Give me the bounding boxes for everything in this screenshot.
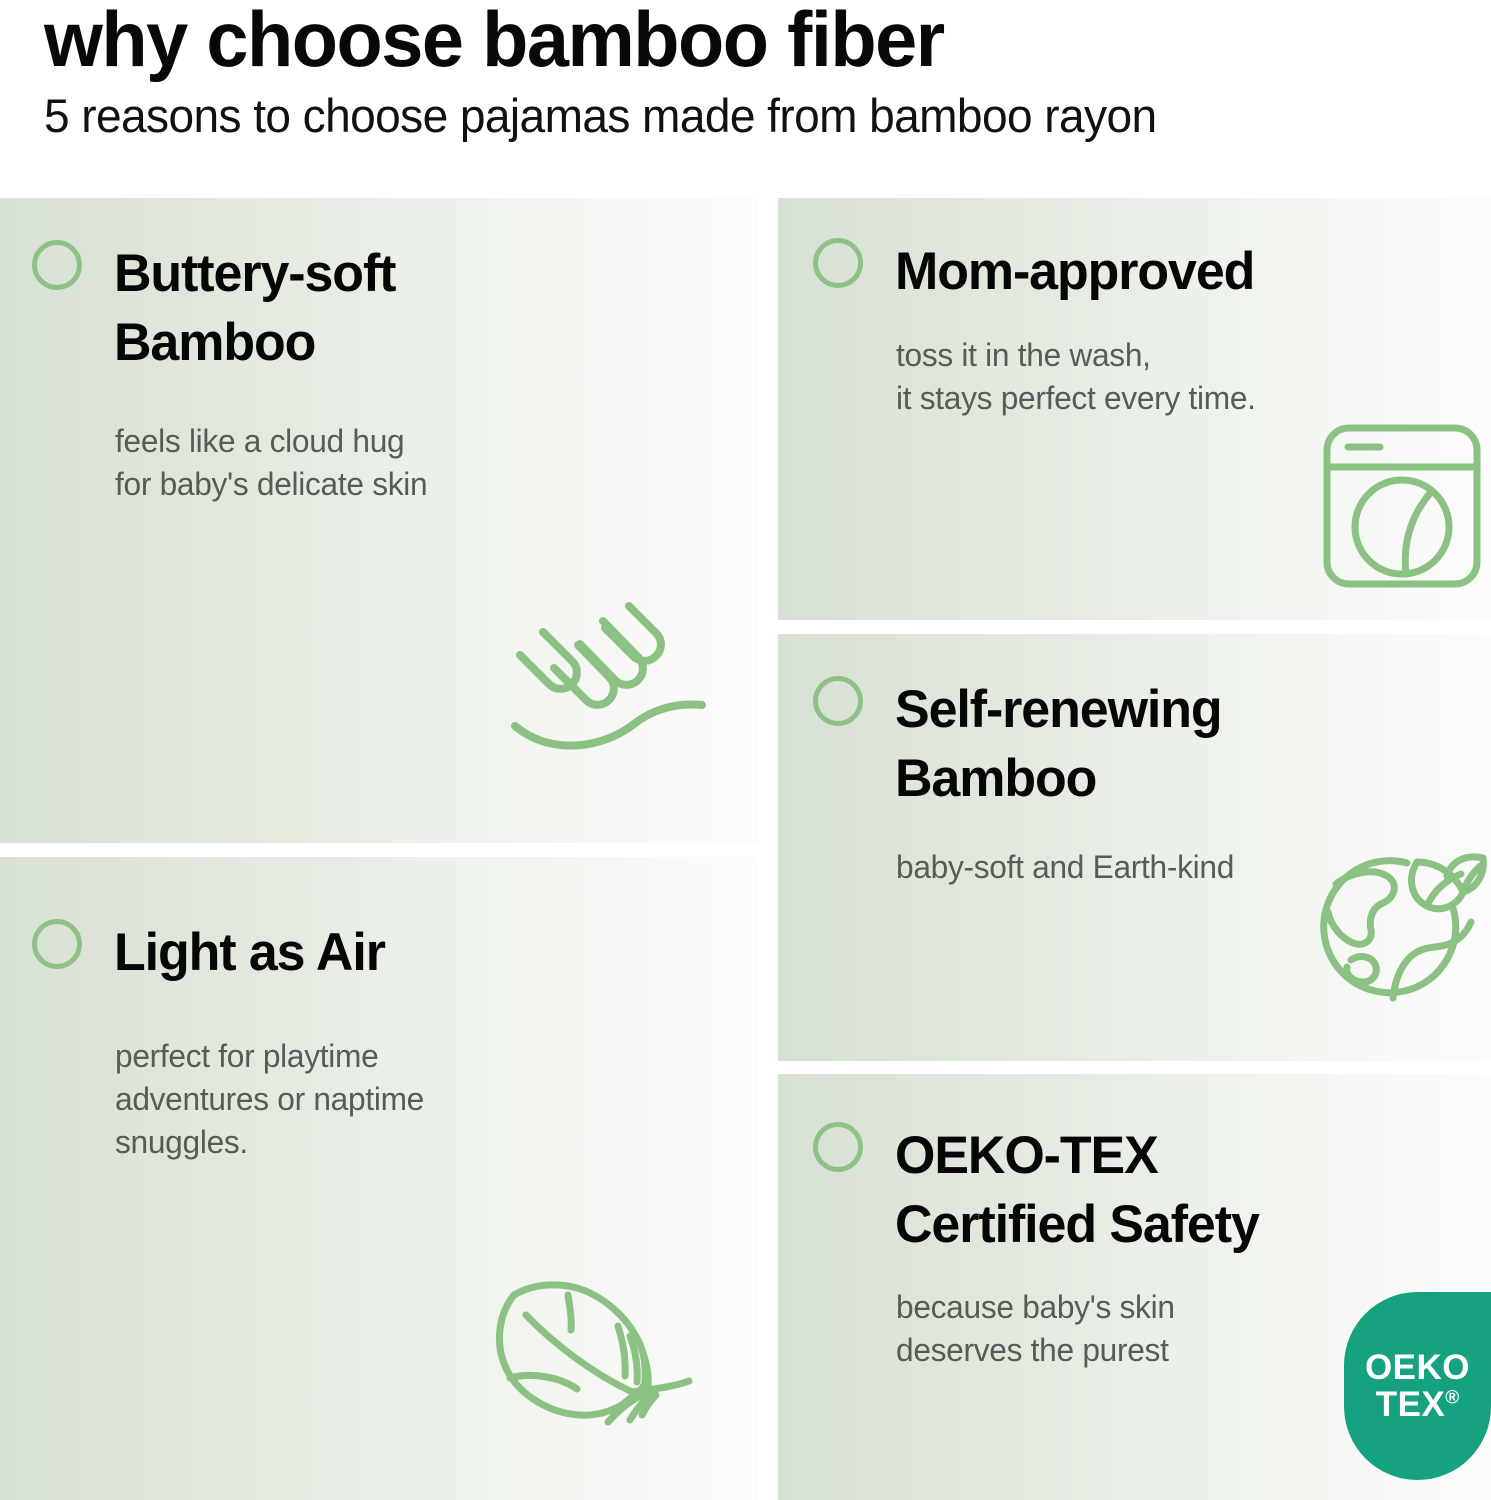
hand-touch-fabric-icon <box>494 598 724 788</box>
card-heading-row: Buttery-soft Bamboo <box>32 240 401 378</box>
card-description: feels like a cloud hug for baby's delica… <box>115 420 427 506</box>
oeko-badge-line1: OEKO <box>1365 1350 1470 1385</box>
oeko-badge-tex: TEX <box>1376 1385 1446 1424</box>
card-heading: Light as Air <box>114 919 385 988</box>
card-description: baby-soft and Earth-kind <box>896 846 1234 889</box>
circle-bullet-icon <box>813 676 863 726</box>
card-description: because baby's skin deserves the purest <box>896 1286 1175 1372</box>
oeko-badge-line2: TEX® <box>1376 1387 1460 1422</box>
circle-bullet-icon <box>32 240 82 290</box>
card-heading-row: Mom-approved <box>813 238 1262 307</box>
oeko-tex-badge: OEKO TEX® <box>1344 1292 1491 1480</box>
circle-bullet-icon <box>813 1122 863 1172</box>
card-heading-row: Self-renewing Bamboo <box>813 676 1228 814</box>
card-heading-row: Light as Air <box>32 919 390 988</box>
page-title: why choose bamboo fiber <box>44 0 944 81</box>
feather-icon <box>480 1268 695 1443</box>
card-heading: Self-renewing Bamboo <box>895 676 1222 814</box>
header: why choose bamboo fiber 5 reasons to cho… <box>0 0 1491 190</box>
registered-mark-icon: ® <box>1445 1387 1459 1408</box>
card-description: toss it in the wash, it stays perfect ev… <box>896 334 1256 420</box>
page-subtitle: 5 reasons to choose pajamas made from ba… <box>44 88 1156 144</box>
circle-bullet-icon <box>813 238 863 288</box>
card-heading-row: OEKO-TEX Certified Safety <box>813 1122 1266 1260</box>
infographic-root: why choose bamboo fiber 5 reasons to cho… <box>0 0 1491 1500</box>
earth-leaf-icon <box>1303 848 1488 1028</box>
circle-bullet-icon <box>32 919 82 969</box>
card-heading: Mom-approved <box>895 238 1254 307</box>
card-description: perfect for playtime adventures or napti… <box>115 1035 424 1165</box>
card-heading: Buttery-soft Bamboo <box>114 240 395 378</box>
washing-machine-icon <box>1318 420 1486 592</box>
card-heading: OEKO-TEX Certified Safety <box>895 1122 1259 1260</box>
